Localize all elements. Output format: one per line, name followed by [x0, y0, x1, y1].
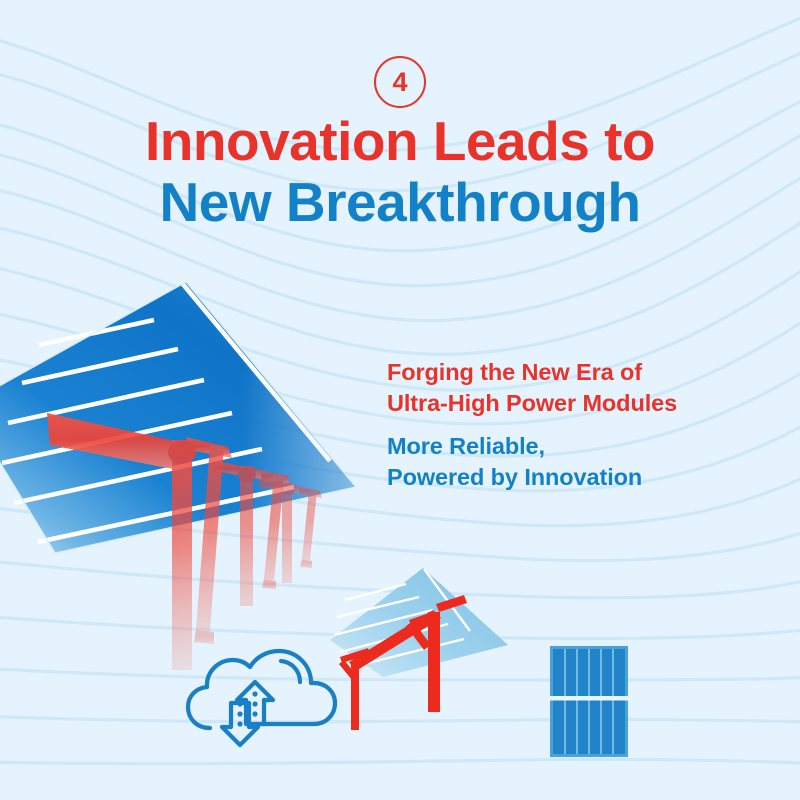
page-title: Innovation Leads to New Breakthrough	[0, 113, 800, 230]
section-number-badge: 4	[374, 56, 426, 108]
headline-line-2: New Breakthrough	[0, 174, 800, 230]
poster-canvas: 4 Innovation Leads to New Breakthrough F…	[0, 0, 800, 800]
subheading-blue-line-1: More Reliable,	[387, 431, 777, 462]
subheading-red-line-2: Ultra-High Power Modules	[387, 388, 777, 419]
subheading-block: Forging the New Era of Ultra-High Power …	[387, 357, 777, 493]
section-number-badge-wrapper: 4	[0, 56, 800, 108]
subheading-blue-line-2: Powered by Innovation	[387, 462, 777, 493]
subheading-red-line-1: Forging the New Era of	[387, 357, 777, 388]
headline-line-1: Innovation Leads to	[0, 113, 800, 169]
text-content-layer: 4 Innovation Leads to New Breakthrough F…	[0, 0, 800, 800]
